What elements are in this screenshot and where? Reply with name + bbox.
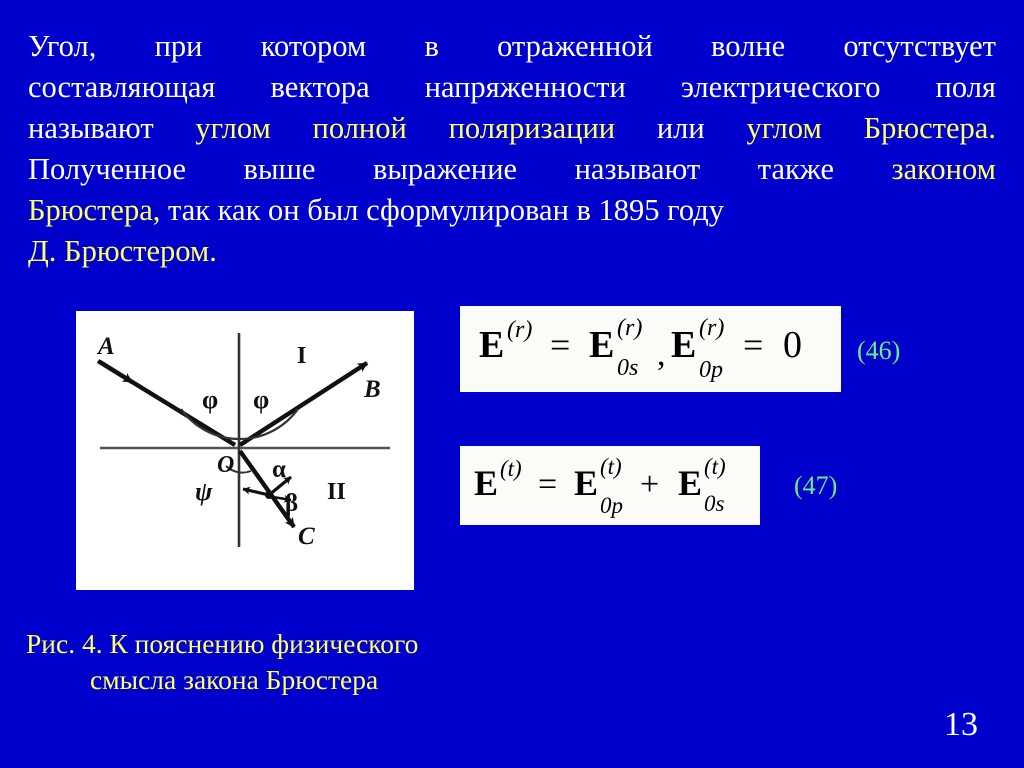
eq47-term1-sup: (t) bbox=[600, 454, 622, 479]
body-word: вектора bbox=[270, 67, 369, 108]
eq46-lhs-sup: (r) bbox=[507, 317, 532, 343]
formula-46-svg: E (r) = E (r) 0s , E (r) 0p = 0 bbox=[471, 309, 831, 389]
body-word: выражение bbox=[373, 149, 517, 190]
figure-caption: Рис. 4. К пояснению физического смысла з… bbox=[26, 626, 418, 698]
body-word: Угол, bbox=[28, 26, 96, 67]
eq46-comma: , bbox=[657, 336, 666, 373]
body-word-highlight: углом bbox=[746, 108, 821, 149]
body-word: также bbox=[758, 149, 834, 190]
slide-canvas: Угол, при котором в отраженной волне отс… bbox=[0, 0, 1024, 768]
body-word-highlight: Брюстера, bbox=[28, 193, 160, 227]
body-word: отсутствует bbox=[843, 26, 996, 67]
eq46-term1-base: E bbox=[589, 324, 614, 366]
body-line-3: называют углом полной поляризации или уг… bbox=[28, 108, 996, 149]
eq46-zero: 0 bbox=[783, 324, 802, 366]
label-angle-incidence: φ bbox=[202, 385, 218, 414]
caption-line-2: смысла закона Брюстера bbox=[26, 662, 418, 698]
formula-47-box: E (t) = E (t) 0p + E (t) 0s bbox=[460, 446, 760, 525]
label-angle-refraction: ψ bbox=[195, 477, 213, 506]
page-number: 13 bbox=[944, 706, 978, 744]
equation-number-46: (46) bbox=[857, 336, 900, 366]
formula-47-svg: E (t) = E (t) 0p + E (t) 0s bbox=[468, 449, 752, 523]
incident-ray-arrow bbox=[100, 362, 132, 382]
label-vector-beta: β bbox=[285, 490, 298, 517]
eq46-equals: = bbox=[550, 325, 570, 365]
body-word-highlight: углом bbox=[195, 108, 270, 149]
eq46-term2-sub: 0p bbox=[699, 357, 723, 383]
body-paragraph: Угол, при котором в отраженной волне отс… bbox=[28, 26, 996, 272]
body-line-2: составляющая вектора напряженности элект… bbox=[28, 67, 996, 108]
eq46-lhs-base: E bbox=[479, 324, 504, 366]
body-word: выше bbox=[244, 149, 316, 190]
body-word: или bbox=[657, 108, 705, 149]
body-word-highlight: поляризации bbox=[449, 108, 616, 149]
body-word: волне bbox=[711, 26, 785, 67]
ray-diagram-svg: A B C O I II φ φ ψ α β bbox=[76, 311, 414, 590]
label-angle-reflection: φ bbox=[253, 385, 269, 414]
eq46-term1-sub: 0s bbox=[617, 355, 638, 381]
label-refracted-ray: C bbox=[298, 523, 315, 550]
body-word: при bbox=[155, 26, 203, 67]
eq47-lhs-base: E bbox=[474, 463, 498, 503]
body-word: называют bbox=[28, 108, 154, 149]
equation-number-47: (47) bbox=[794, 471, 837, 501]
eq47-term1-base: E bbox=[574, 463, 598, 503]
eq47-term2-sup: (t) bbox=[704, 454, 726, 479]
body-line-4: Полученное выше выражение называют также… bbox=[28, 149, 996, 190]
ray-diagram-figure: A B C O I II φ φ ψ α β bbox=[76, 311, 414, 590]
body-word: поля bbox=[936, 67, 996, 108]
vector-origin-dot bbox=[265, 491, 273, 499]
body-word: отраженной bbox=[497, 26, 653, 67]
eq46-term1-sup: (r) bbox=[617, 315, 642, 341]
body-text-rest: так как он был сформулирован в 1895 году bbox=[160, 193, 724, 227]
label-vector-alpha: α bbox=[272, 456, 286, 483]
body-line-5: Брюстера, так как он был сформулирован в… bbox=[28, 190, 996, 231]
caption-line-1: Рис. 4. К пояснению физического bbox=[26, 628, 418, 659]
body-word-highlight: Брюстера. bbox=[864, 108, 996, 149]
eq47-term2-sub: 0s bbox=[704, 491, 725, 516]
body-word-highlight: законом bbox=[892, 149, 996, 190]
body-word: котором bbox=[261, 26, 367, 67]
label-medium-lower: II bbox=[327, 479, 346, 505]
eq46-term2-sup: (r) bbox=[699, 315, 724, 341]
eq47-equals: = bbox=[538, 466, 557, 503]
eq46-equals2: = bbox=[743, 325, 763, 365]
formula-46-box: E (r) = E (r) 0s , E (r) 0p = 0 bbox=[460, 306, 841, 392]
body-word: в bbox=[424, 26, 438, 67]
label-reflected-ray: B bbox=[363, 376, 381, 403]
eq47-term2-base: E bbox=[678, 463, 702, 503]
body-word-highlight: полной bbox=[313, 108, 407, 149]
body-word: называют bbox=[575, 149, 701, 190]
body-word: электрического bbox=[681, 67, 881, 108]
eq47-lhs-sup: (t) bbox=[500, 456, 522, 481]
label-incident-ray: A bbox=[96, 333, 115, 360]
label-origin: O bbox=[217, 452, 234, 478]
body-word: составляющая bbox=[28, 67, 215, 108]
eq47-term1-sub: 0p bbox=[600, 493, 623, 518]
eq46-term2-base: E bbox=[671, 324, 696, 366]
body-word: напряженности bbox=[425, 67, 626, 108]
body-line-1: Угол, при котором в отраженной волне отс… bbox=[28, 26, 996, 67]
eq47-plus: + bbox=[640, 466, 659, 503]
body-line-6: Д. Брюстером. bbox=[28, 231, 996, 272]
body-word: Полученное bbox=[28, 149, 186, 190]
label-medium-upper: I bbox=[297, 343, 306, 369]
